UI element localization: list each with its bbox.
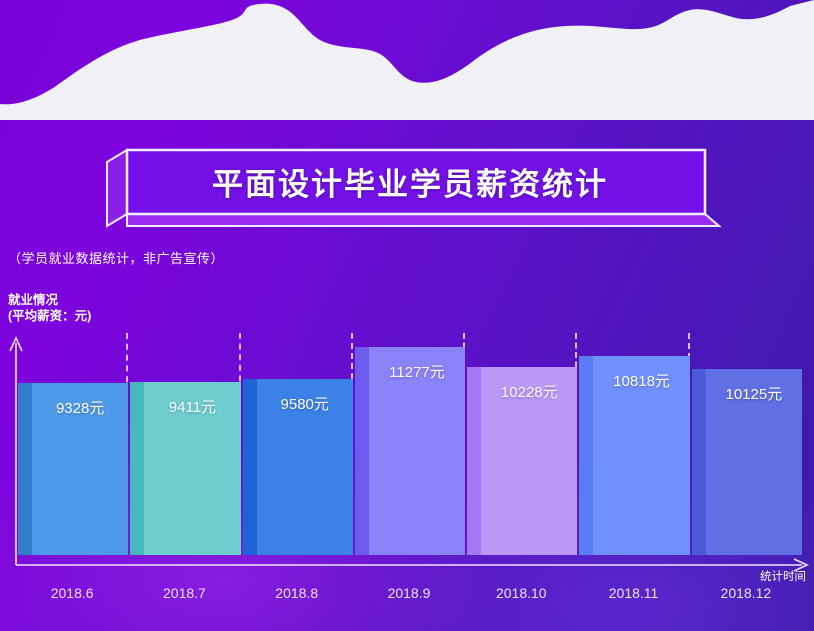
bar-value-label: 9580元 bbox=[257, 393, 353, 414]
bar-value-label: 11277元 bbox=[369, 361, 465, 382]
title-banner: 平面设计毕业学员薪资统计 bbox=[105, 148, 715, 228]
bar-side-face bbox=[579, 356, 593, 555]
bar-side-face bbox=[243, 379, 257, 555]
bar-2018.11[interactable]: 10818元 bbox=[579, 356, 689, 555]
bar-side-face bbox=[467, 367, 481, 555]
wave-decoration bbox=[0, 0, 814, 120]
category-label-2018.7: 2018.7 bbox=[128, 585, 240, 601]
y-axis-title-line2: (平均薪资：元) bbox=[8, 308, 91, 324]
bar-side-face bbox=[18, 383, 32, 555]
category-label-2018.11: 2018.11 bbox=[577, 585, 689, 601]
bar-value-label: 9328元 bbox=[32, 397, 128, 418]
bar-side-face bbox=[355, 347, 369, 555]
bar-2018.7[interactable]: 9411元 bbox=[130, 382, 240, 555]
bar-2018.10[interactable]: 10228元 bbox=[467, 367, 577, 555]
poster-canvas: 平面设计毕业学员薪资统计 （学员就业数据统计，非广告宣传） 就业情况 (平均薪资… bbox=[0, 0, 814, 631]
bar-2018.8[interactable]: 9580元 bbox=[243, 379, 353, 555]
bar-side-face bbox=[692, 369, 706, 555]
bar-side-face bbox=[130, 382, 144, 555]
category-label-2018.12: 2018.12 bbox=[690, 585, 802, 601]
bar-value-label: 10818元 bbox=[593, 370, 689, 391]
category-label-2018.6: 2018.6 bbox=[16, 585, 128, 601]
category-label-2018.10: 2018.10 bbox=[465, 585, 577, 601]
category-axis-labels: 2018.62018.72018.82018.92018.102018.1120… bbox=[0, 585, 814, 625]
page-title: 平面设计毕业学员薪资统计 bbox=[105, 148, 715, 214]
bar-2018.6[interactable]: 9328元 bbox=[18, 383, 128, 555]
y-axis-title-line1: 就业情况 bbox=[8, 292, 91, 308]
bar-series: 9328元9411元9580元11277元10228元10818元10125元 bbox=[0, 325, 814, 565]
category-label-2018.8: 2018.8 bbox=[241, 585, 353, 601]
bar-value-label: 9411元 bbox=[144, 396, 240, 417]
y-axis-title: 就业情况 (平均薪资：元) bbox=[8, 292, 91, 324]
subtitle: （学员就业数据统计，非广告宣传） bbox=[8, 248, 224, 267]
bar-2018.9[interactable]: 11277元 bbox=[355, 347, 465, 555]
bar-chart: 9328元9411元9580元11277元10228元10818元10125元 bbox=[0, 325, 814, 575]
category-label-2018.9: 2018.9 bbox=[353, 585, 465, 601]
bar-2018.12[interactable]: 10125元 bbox=[692, 369, 802, 555]
bar-value-label: 10228元 bbox=[481, 381, 577, 402]
bar-value-label: 10125元 bbox=[706, 383, 802, 404]
